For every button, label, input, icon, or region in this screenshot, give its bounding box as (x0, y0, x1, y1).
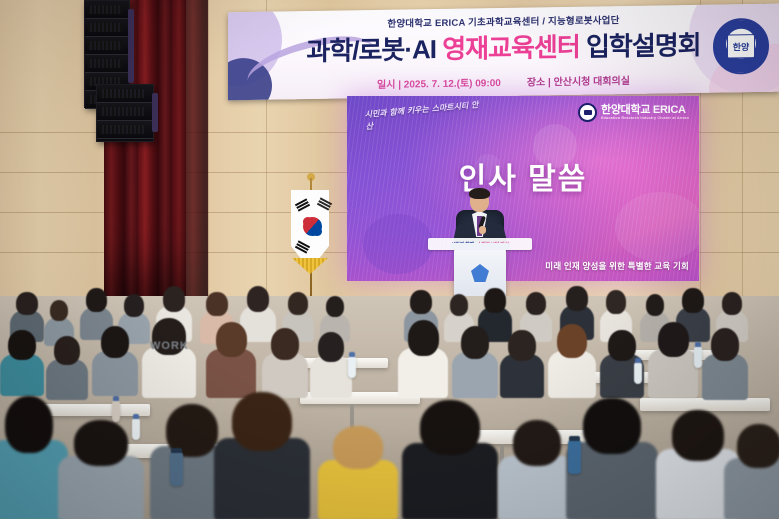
audience-member (0, 330, 44, 396)
audience-member-torso (0, 354, 44, 396)
emblem-label: 한양 (727, 34, 755, 58)
blue-tumbler-cap (569, 436, 580, 441)
event-photograph: 한양대학교 ERICA 기초과학교육센터 / 지능형로봇사업단 과학/로봇·AI… (0, 0, 779, 519)
audience-member (398, 320, 448, 398)
tshirt-text: WORK (150, 340, 189, 352)
audience-member-head (333, 426, 383, 469)
audience-member-head (408, 320, 439, 356)
audience-member-head (526, 292, 546, 315)
audience-member-head (247, 286, 269, 312)
speaker-hand (479, 226, 486, 234)
audience-member (262, 328, 308, 398)
screen-logo-sub: Education Research Industry Cluster at A… (601, 117, 689, 121)
audience-member-head (8, 330, 35, 360)
coffee-cup-cap (113, 396, 119, 401)
audience-member (648, 322, 698, 398)
audience-member-head (484, 288, 505, 313)
audience-member (310, 332, 352, 398)
university-logo-icon (578, 103, 597, 122)
audience-member (500, 330, 544, 398)
blue-tumbler-cap (171, 448, 182, 453)
banner-title-part1: 과학/로봇·AI (306, 34, 442, 66)
blue-tumbler (568, 440, 581, 474)
audience-member-head (232, 392, 292, 451)
banner-title-highlight: 영재교육센터 (442, 32, 580, 64)
audience-member-head (326, 296, 345, 317)
taeguk-detail (312, 227, 322, 237)
audience-member-head (5, 396, 53, 453)
stage-curtain (186, 0, 208, 300)
audience-member-head (658, 322, 689, 357)
wall-seam (208, 0, 209, 300)
water-bottle (132, 418, 140, 440)
screen-headline: 인사 말씀 (347, 154, 699, 198)
audience-member (402, 400, 498, 519)
screen-university-logo: 한양대학교 ERICA Education Research Industry … (578, 103, 689, 122)
audience-member-head (124, 294, 144, 317)
audience-member-head (513, 420, 561, 466)
audience-member-head (101, 326, 130, 358)
audience-member-head (566, 286, 587, 311)
audience-member-head (420, 400, 480, 455)
audience-member-head (271, 328, 300, 360)
audience-member-head (54, 336, 80, 365)
screen-decor-blob (615, 192, 699, 262)
blue-tumbler (170, 452, 183, 486)
audience-member-head (672, 410, 724, 461)
screen-decor-blob (363, 214, 433, 274)
audience-member-head (722, 292, 742, 315)
audience-member (214, 392, 310, 519)
audience-member-head (583, 398, 640, 454)
water-bottle-cap (133, 414, 139, 419)
screen-footnote: 미래 인재 양성을 위한 특별한 교육 기회 (545, 260, 689, 272)
water-bottle (694, 346, 702, 368)
banner-datetime: 일시 | 2025. 7. 12.(토) 09:00 (377, 78, 501, 91)
banner-place: 장소 | 안산시청 대회의실 (527, 76, 630, 89)
audience-member-head (74, 420, 127, 466)
audience-member-torso (46, 359, 88, 400)
audience-member-head (206, 292, 227, 316)
screen-logo-main: 한양대학교 ERICA (601, 105, 689, 116)
audience-member (548, 324, 596, 398)
audience-member-head (737, 424, 779, 468)
podium-top (450, 243, 510, 250)
audience-member (92, 326, 138, 396)
water-bottle-cap (635, 358, 641, 363)
speaker-hair (469, 188, 490, 199)
audience-member-head (608, 330, 635, 361)
audience-member (498, 420, 576, 519)
audience-member-head (461, 326, 490, 359)
water-bottle (348, 356, 356, 378)
audience-member (46, 336, 88, 400)
audience-member-head (410, 290, 431, 314)
audience-member-head (646, 294, 665, 316)
audience-member-head (288, 292, 308, 315)
banner-title-part2: 입학설명회 (580, 30, 701, 62)
ansan-city-logo-icon (471, 264, 489, 282)
projection-screen: 시민과 함께 키우는 스마트시티 안산 한양대학교 ERICA Educatio… (347, 96, 699, 281)
audience-member (702, 328, 748, 400)
taeguk-detail (303, 217, 313, 227)
audience-member-head (163, 286, 185, 312)
audience-member (452, 326, 498, 398)
audience-member-head (606, 290, 626, 314)
audience-member-head (16, 292, 37, 315)
audience-member-head (682, 288, 703, 313)
audience-member-head (450, 294, 469, 316)
audience-member-head (86, 288, 106, 312)
line-array-speaker (96, 84, 154, 142)
audience-member-head (216, 322, 247, 357)
audience-member (142, 318, 196, 398)
audience-member (318, 426, 398, 519)
audience-member-head (508, 330, 535, 361)
audience-member (206, 322, 256, 398)
event-banner: 한양대학교 ERICA 기초과학교육센터 / 지능형로봇사업단 과학/로봇·AI… (228, 4, 779, 101)
audience-member-torso (310, 356, 352, 398)
water-bottle-cap (695, 342, 701, 347)
water-bottle-cap (349, 352, 355, 357)
audience-member-head (50, 300, 69, 321)
screen-city-slogan: 시민과 함께 키우는 스마트시티 안산 (364, 99, 486, 133)
audience-member-head (557, 324, 587, 358)
water-bottle (634, 362, 642, 384)
audience-member-head (711, 328, 740, 361)
coffee-cup (112, 400, 120, 422)
audience-member-head (318, 332, 344, 362)
audience-member (724, 424, 779, 519)
